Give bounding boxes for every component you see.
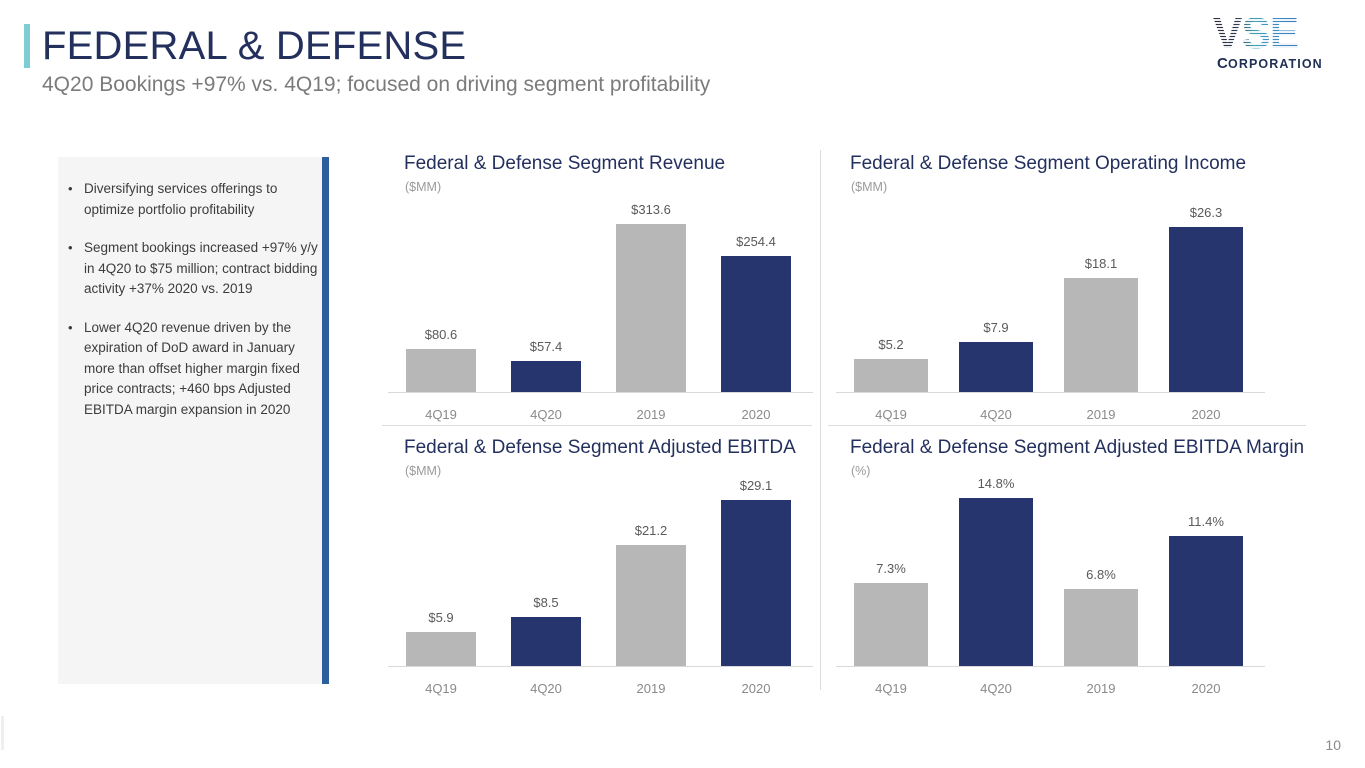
quadrant-vertical-divider [820,150,821,690]
category-label: 4Q19 [406,681,476,696]
bar-group: $5.2 [854,152,928,392]
bar [406,349,476,392]
chart-operating-income: Federal & Defense Segment Operating Inco… [828,152,1306,420]
category-label: 2020 [1169,407,1243,422]
list-item: • Diversifying services offerings to opt… [68,179,320,220]
quadrant-horizontal-divider-left [382,425,812,426]
bar-value-label: $18.1 [1064,256,1138,271]
x-axis-line [836,666,1265,667]
bar-value-label: $313.6 [616,202,686,217]
bar-group: 14.8% [959,436,1033,666]
bar [406,632,476,666]
bar [1064,589,1138,666]
bullet-icon: • [68,238,84,258]
bar-group: $29.1 [721,436,791,666]
svg-text:C: C [1217,55,1228,72]
bar-value-label: $80.6 [406,327,476,342]
footer-edge-mark [1,716,4,750]
bar-group: $18.1 [1064,152,1138,392]
bar-group: $7.9 [959,152,1033,392]
bar [1169,227,1243,392]
chart-revenue: Federal & Defense Segment Revenue ($MM) … [382,152,812,420]
bar [959,498,1033,666]
category-label: 2020 [721,681,791,696]
bar [721,256,791,392]
list-item: • Segment bookings increased +97% y/y in… [68,238,320,300]
category-label: 2019 [616,407,686,422]
bar-value-label: $8.5 [511,595,581,610]
bar-group: $313.6 [616,152,686,392]
bar [1169,536,1243,666]
bullet-text: Segment bookings increased +97% y/y in 4… [84,238,320,300]
bar [721,500,791,666]
svg-text:VSE: VSE [1213,10,1298,58]
category-label: 2019 [616,681,686,696]
bar-value-label: $26.3 [1169,205,1243,220]
bullet-icon: • [68,179,84,199]
bar-group: $80.6 [406,152,476,392]
bar-value-label: 7.3% [854,561,928,576]
bar-group: $57.4 [511,152,581,392]
bar [511,361,581,392]
bar [1064,278,1138,392]
bar-value-label: $254.4 [721,234,791,249]
bar-group: $8.5 [511,436,581,666]
plot-area: $80.64Q19$57.44Q20$313.62019$254.42020 [382,152,812,420]
svg-text:ORPORATION: ORPORATION [1228,57,1323,71]
x-axis-line [388,666,813,667]
bar-group: 6.8% [1064,436,1138,666]
bar-group: $254.4 [721,152,791,392]
bar-value-label: $5.2 [854,337,928,352]
chart-adjusted-ebitda: Federal & Defense Segment Adjusted EBITD… [382,436,812,704]
bar-value-label: $57.4 [511,339,581,354]
category-label: 4Q20 [511,407,581,422]
title-accent-bar [24,24,30,68]
bar [854,583,928,666]
bullet-text: Diversifying services offerings to optim… [84,179,320,220]
page-subtitle: 4Q20 Bookings +97% vs. 4Q19; focused on … [42,70,710,100]
bar-value-label: 11.4% [1169,514,1243,529]
bar-group: 11.4% [1169,436,1243,666]
bar-value-label: 14.8% [959,476,1033,491]
vse-corporation-logo: VSE C ORPORATION [1207,10,1337,76]
category-label: 2020 [1169,681,1243,696]
plot-area: $5.24Q19$7.94Q20$18.12019$26.32020 [828,152,1306,420]
bar [854,359,928,392]
bar-group: 7.3% [854,436,928,666]
bar-group: $21.2 [616,436,686,666]
chart-adjusted-ebitda-margin: Federal & Defense Segment Adjusted EBITD… [828,436,1306,704]
plot-area: $5.94Q19$8.54Q20$21.22019$29.12020 [382,436,812,704]
bullet-text: Lower 4Q20 revenue driven by the expirat… [84,318,320,421]
category-label: 4Q19 [406,407,476,422]
bar-value-label: $5.9 [406,610,476,625]
x-axis-line [388,392,813,393]
bar-value-label: $7.9 [959,320,1033,335]
logo-icon: VSE C ORPORATION [1207,10,1337,76]
commentary-panel: • Diversifying services offerings to opt… [58,157,329,684]
category-label: 4Q20 [511,681,581,696]
bar [959,342,1033,392]
bar [511,617,581,666]
category-label: 4Q20 [959,407,1033,422]
bullet-list: • Diversifying services offerings to opt… [68,179,320,438]
category-label: 4Q19 [854,681,928,696]
bar-value-label: $29.1 [721,478,791,493]
bar [616,224,686,392]
bullet-icon: • [68,318,84,338]
slide-header: FEDERAL & DEFENSE 4Q20 Bookings +97% vs.… [0,0,1365,110]
bar-group: $5.9 [406,436,476,666]
bar-value-label: 6.8% [1064,567,1138,582]
page-title: FEDERAL & DEFENSE [42,20,466,72]
category-label: 2019 [1064,681,1138,696]
page-number: 10 [1325,737,1341,753]
quadrant-horizontal-divider-right [828,425,1306,426]
plot-area: 7.3%4Q1914.8%4Q206.8%201911.4%2020 [828,436,1306,704]
category-label: 2020 [721,407,791,422]
x-axis-line [836,392,1265,393]
bar-value-label: $21.2 [616,523,686,538]
bar [616,545,686,666]
category-label: 4Q19 [854,407,928,422]
list-item: • Lower 4Q20 revenue driven by the expir… [68,318,320,421]
bar-group: $26.3 [1169,152,1243,392]
commentary-accent-bar [322,157,329,684]
category-label: 4Q20 [959,681,1033,696]
category-label: 2019 [1064,407,1138,422]
